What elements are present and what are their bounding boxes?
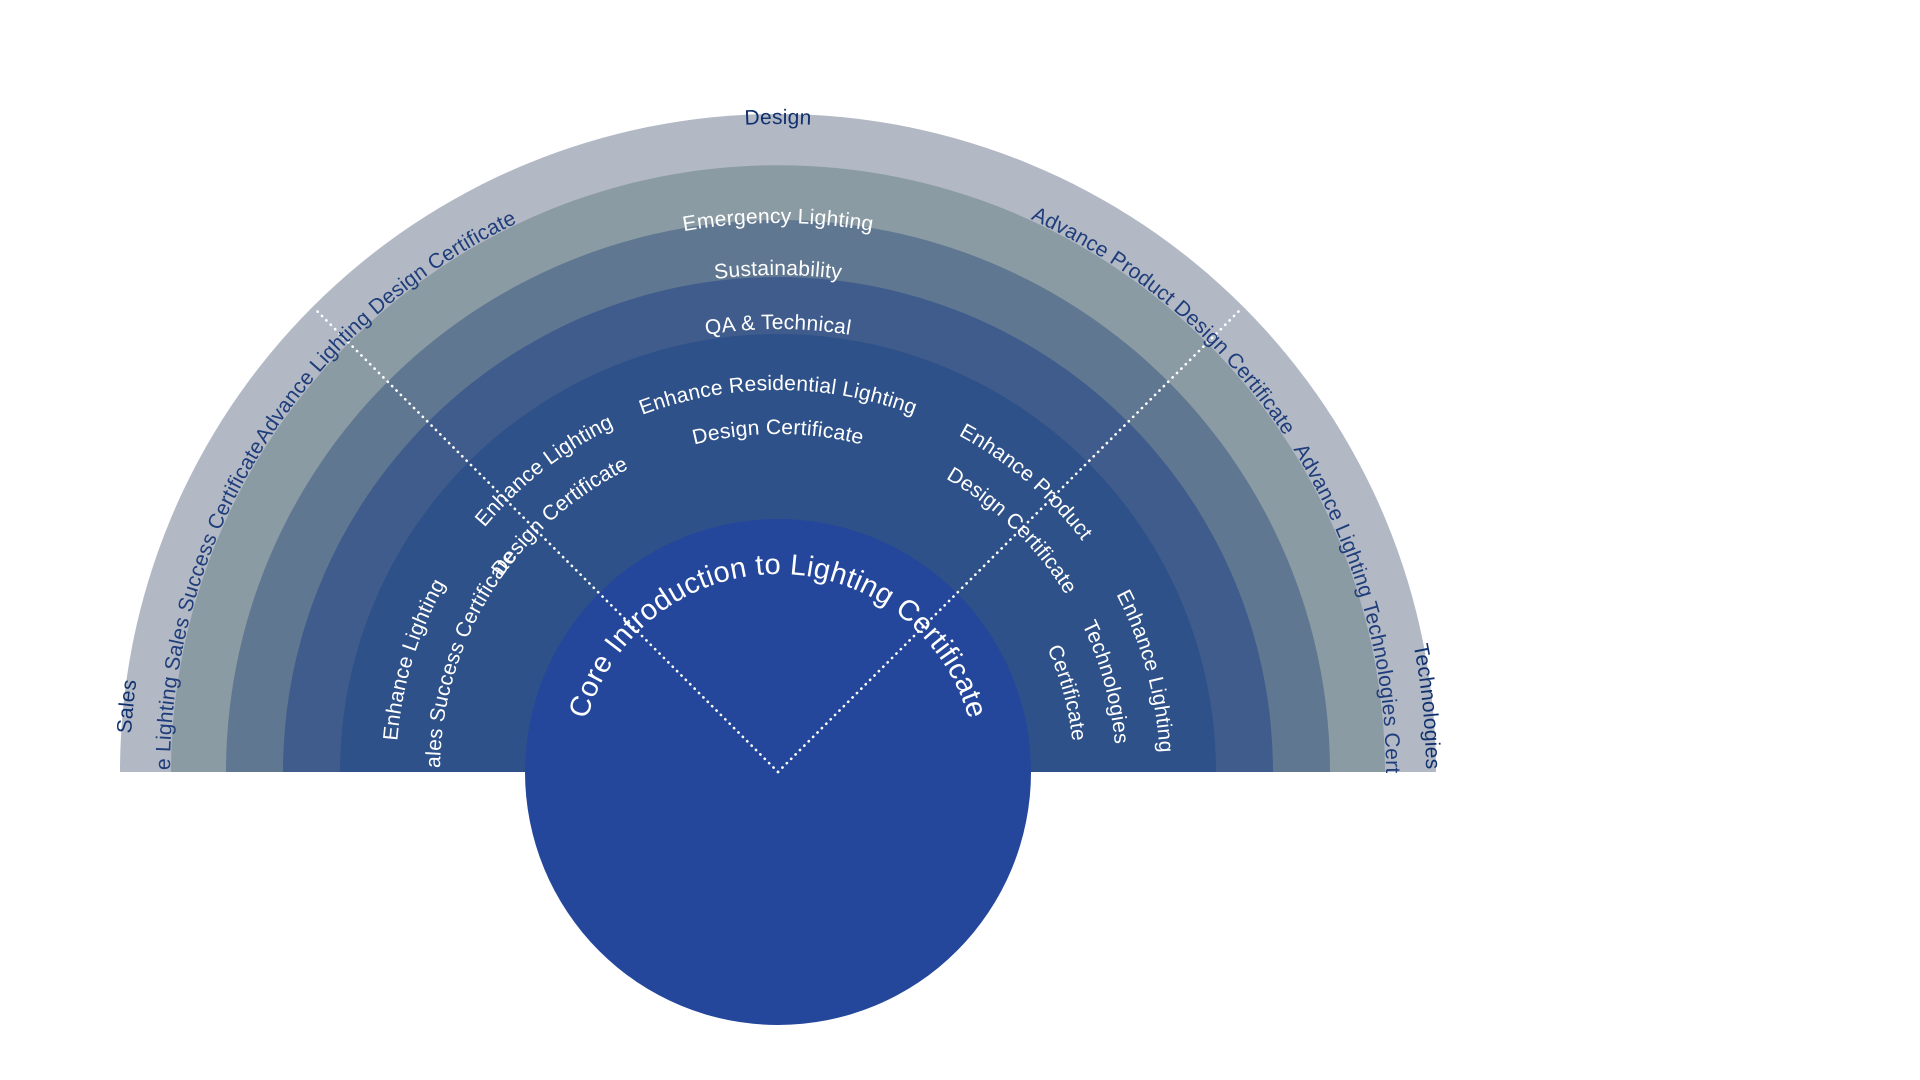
sector-title-design: Design [744,106,812,130]
semicircle-diagram: Advance Lighting Design Certificate Adva… [0,0,1920,1080]
diagram-canvas: Advance Lighting Design Certificate Adva… [0,0,1920,1080]
label-sustainability: Sustainability [713,257,844,284]
